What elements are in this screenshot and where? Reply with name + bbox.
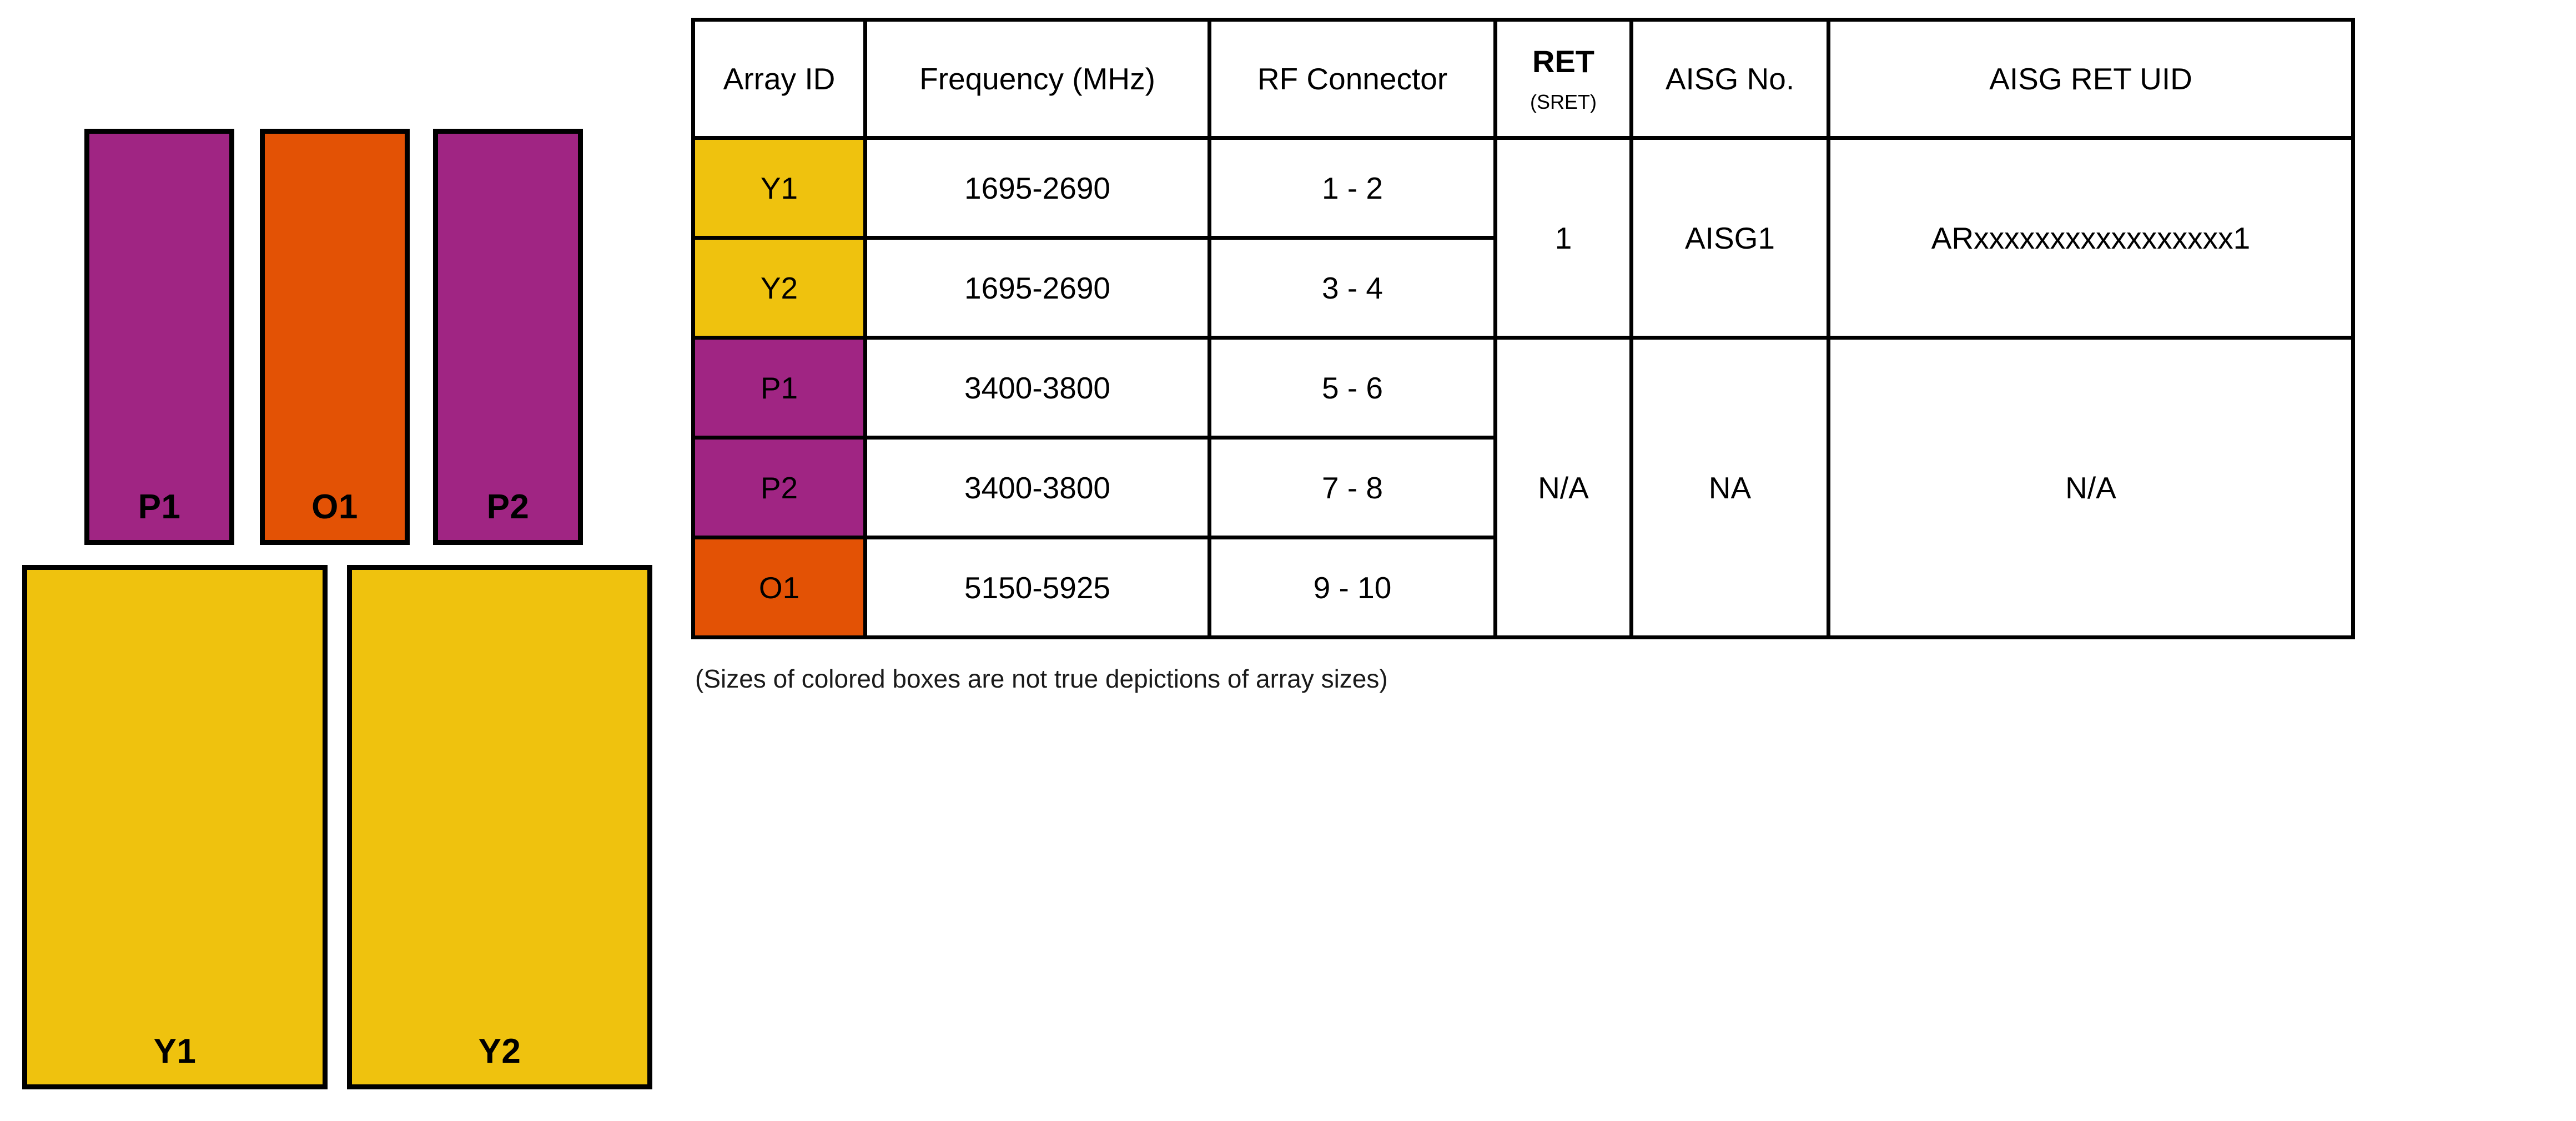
cell-rf-connector: 9 - 10 xyxy=(1210,538,1496,638)
cell-frequency: 3400-3800 xyxy=(866,338,1210,438)
array-box-y1: Y1 xyxy=(22,565,328,1089)
column-header-ret: RET (SRET) xyxy=(1496,20,1632,138)
array-box-label: Y2 xyxy=(479,1034,521,1084)
array-layout-diagram: P1 O1 P2 Y1 Y2 xyxy=(0,0,688,1121)
array-box-o1: O1 xyxy=(260,129,410,545)
cell-frequency: 1695-2690 xyxy=(866,238,1210,338)
cell-aisg-no: AISG1 xyxy=(1632,138,1829,338)
array-box-label: Y1 xyxy=(154,1034,197,1084)
array-box-y2: Y2 xyxy=(347,565,652,1089)
cell-aisg-no: NA xyxy=(1632,338,1829,638)
column-header-aisg-ret-uid: AISG RET UID xyxy=(1829,20,2353,138)
diagram-caption: (Sizes of colored boxes are not true dep… xyxy=(695,664,1388,694)
cell-frequency: 1695-2690 xyxy=(866,138,1210,238)
column-header-frequency: Frequency (MHz) xyxy=(866,20,1210,138)
array-box-p1: P1 xyxy=(84,129,234,545)
table-row: Y1 1695-2690 1 - 2 1 AISG1 ARxxxxxxxxxxx… xyxy=(693,138,2353,238)
cell-array-id: Y1 xyxy=(693,138,866,238)
cell-ret: 1 xyxy=(1496,138,1632,338)
cell-rf-connector: 5 - 6 xyxy=(1210,338,1496,438)
table-row: P1 3400-3800 5 - 6 N/A NA N/A xyxy=(693,338,2353,438)
array-specification-table: Array ID Frequency (MHz) RF Connector RE… xyxy=(691,18,2351,639)
cell-rf-connector: 1 - 2 xyxy=(1210,138,1496,238)
cell-ret: N/A xyxy=(1496,338,1632,638)
column-header-array-id: Array ID xyxy=(693,20,866,138)
array-box-p2: P2 xyxy=(433,129,583,545)
array-box-label: P2 xyxy=(487,490,530,540)
cell-array-id: Y2 xyxy=(693,238,866,338)
column-header-aisg-no: AISG No. xyxy=(1632,20,1829,138)
cell-rf-connector: 3 - 4 xyxy=(1210,238,1496,338)
cell-array-id: P1 xyxy=(693,338,866,438)
column-header-ret-main: RET xyxy=(1532,44,1594,79)
cell-array-id: P2 xyxy=(693,438,866,538)
cell-aisg-ret-uid: ARxxxxxxxxxxxxxxxxx1 xyxy=(1829,138,2353,338)
cell-frequency: 5150-5925 xyxy=(866,538,1210,638)
array-box-label: P1 xyxy=(138,490,181,540)
cell-aisg-ret-uid: N/A xyxy=(1829,338,2353,638)
table-header-row: Array ID Frequency (MHz) RF Connector RE… xyxy=(693,20,2353,138)
column-header-rf-connector: RF Connector xyxy=(1210,20,1496,138)
cell-rf-connector: 7 - 8 xyxy=(1210,438,1496,538)
column-header-ret-sub: (SRET) xyxy=(1530,91,1597,113)
array-box-label: O1 xyxy=(311,490,358,540)
cell-array-id: O1 xyxy=(693,538,866,638)
cell-frequency: 3400-3800 xyxy=(866,438,1210,538)
